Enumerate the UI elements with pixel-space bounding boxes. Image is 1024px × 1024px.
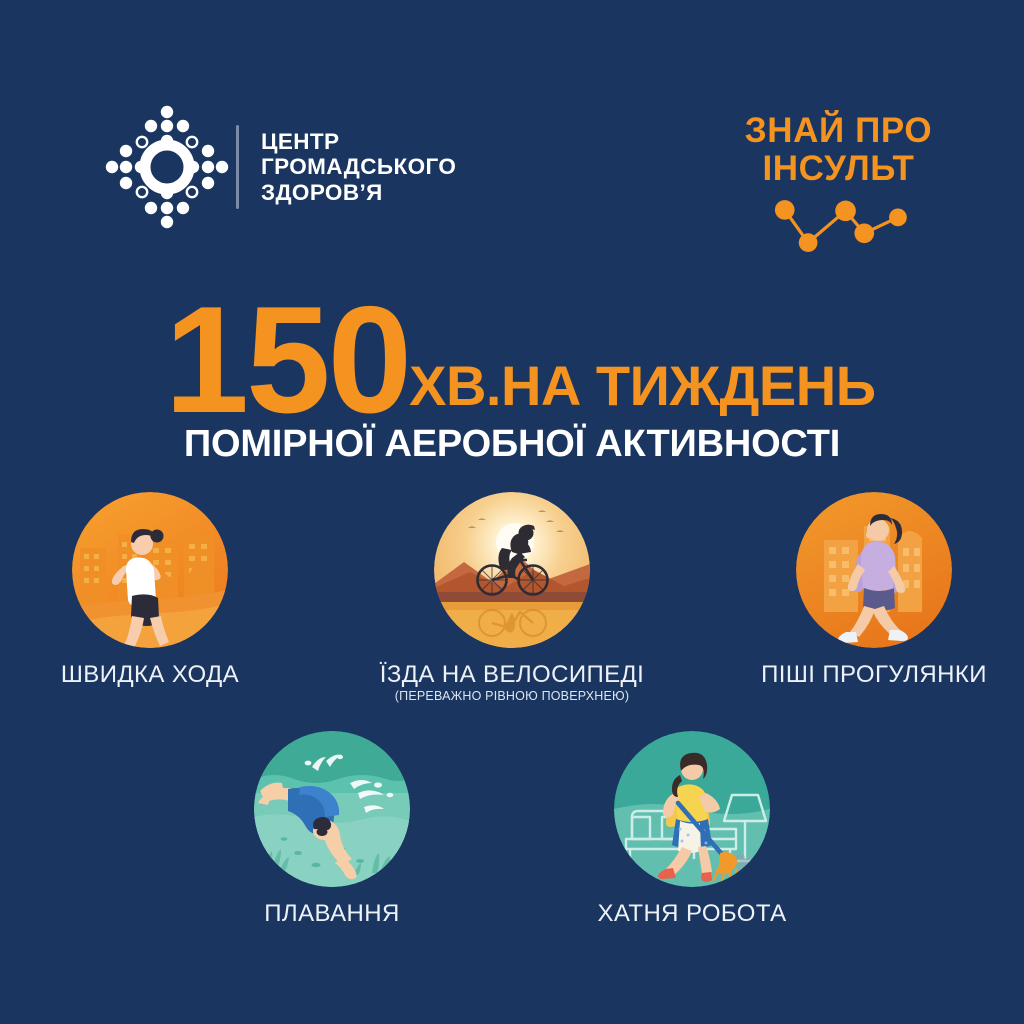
activity-item-swimming: ПЛАВАННЯ — [232, 731, 432, 927]
brand-name-line-1: ЦЕНТР — [261, 129, 456, 155]
activity-label: ЇЗДА НА ВЕЛОСИПЕДІ — [380, 662, 645, 688]
activity-label: ХАТНЯ РОБОТА — [597, 901, 786, 927]
cyclist-sunset-icon — [434, 492, 590, 648]
brand-lockup: ЦЕНТР ГРОМАДСЬКОГО ЗДОРОВ’Я — [104, 104, 456, 230]
brand-name-line-2: ГРОМАДСЬКОГО — [261, 154, 456, 180]
activity-grid: ШВИДКА ХОДА — [0, 492, 1024, 927]
activity-row-1: ШВИДКА ХОДА — [0, 492, 1024, 703]
poster-root: ЦЕНТР ГРОМАДСЬКОГО ЗДОРОВ’Я ЗНАЙ ПРО ІНС… — [0, 0, 1024, 1024]
radial-dots-logo-icon — [104, 104, 230, 230]
activity-item-walking-tours: ПІШІ ПРОГУЛЯНКИ — [774, 492, 974, 703]
headline-main-row: 150 ХВ.НА ТИЖДЕНЬ — [0, 300, 1024, 420]
activity-label: ПІШІ ПРОГУЛЯНКИ — [761, 662, 987, 688]
activity-label: ШВИДКА ХОДА — [61, 662, 239, 688]
campaign-badge: ЗНАЙ ПРО ІНСУЛЬТ — [731, 112, 946, 252]
activity-item-housework: ХАТНЯ РОБОТА — [592, 731, 792, 927]
campaign-badge-line-2: ІНСУЛЬТ — [731, 150, 946, 188]
walking-woman-city-icon — [796, 492, 952, 648]
headline-subtitle: ПОМІРНОЇ АЕРОБНОЇ АКТИВНОСТІ — [0, 424, 1024, 464]
activity-sublabel: (ПЕРЕВАЖНО РІВНОЮ ПОВЕРХНЕЮ) — [395, 689, 629, 703]
headline-number: 150 — [165, 300, 410, 420]
brand-divider — [236, 125, 239, 209]
headline-block: 150 ХВ.НА ТИЖДЕНЬ ПОМІРНОЇ АЕРОБНОЇ АКТИ… — [0, 300, 1024, 464]
headline-unit: ХВ.НА ТИЖДЕНЬ — [409, 358, 875, 420]
connected-dots-network-icon — [731, 194, 946, 252]
swimmer-water-icon — [254, 731, 410, 887]
activity-label: ПЛАВАННЯ — [264, 901, 399, 927]
activity-item-brisk-walking: ШВИДКА ХОДА — [50, 492, 250, 703]
running-woman-city-icon — [72, 492, 228, 648]
activity-row-2: ПЛАВАННЯ — [0, 731, 1024, 927]
woman-sweeping-icon — [614, 731, 770, 887]
campaign-badge-line-1: ЗНАЙ ПРО — [731, 112, 946, 150]
activity-item-cycling: ЇЗДА НА ВЕЛОСИПЕДІ (ПЕРЕВАЖНО РІВНОЮ ПОВ… — [362, 492, 662, 703]
brand-name: ЦЕНТР ГРОМАДСЬКОГО ЗДОРОВ’Я — [261, 129, 456, 206]
header: ЦЕНТР ГРОМАДСЬКОГО ЗДОРОВ’Я ЗНАЙ ПРО ІНС… — [0, 0, 1024, 270]
brand-name-line-3: ЗДОРОВ’Я — [261, 180, 456, 206]
